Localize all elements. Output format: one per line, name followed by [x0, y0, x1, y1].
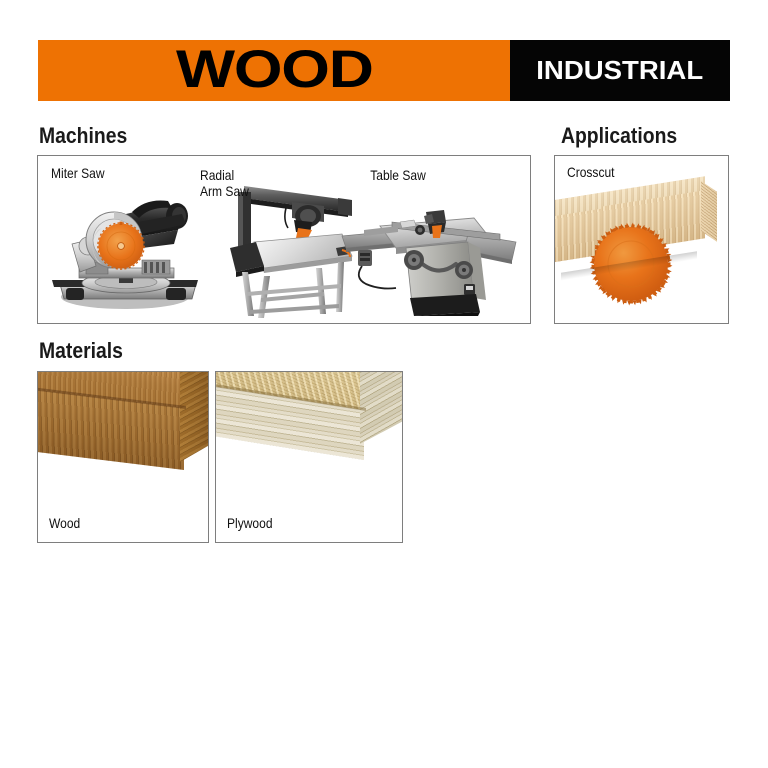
material-label-plywood: Plywood [227, 516, 273, 532]
table-saw-icon [340, 186, 520, 316]
plywood-side-plies [360, 371, 402, 444]
panel-applications: Crosscut [554, 155, 729, 324]
section-heading-materials: Materials [39, 340, 123, 362]
page-title: WOOD [176, 43, 373, 99]
board-front-left-overlap [555, 208, 595, 262]
application-label-crosscut: Crosscut [567, 165, 615, 181]
machine-label-table-saw: Table Saw [346, 168, 449, 184]
header-orange-block: WOOD [38, 40, 510, 101]
header-black-block: INDUSTRIAL [510, 40, 730, 101]
crosscut-icon [555, 194, 729, 314]
plywood-sheet-icon [215, 371, 403, 480]
panel-machines: Miter Saw [37, 155, 531, 324]
status-badge: INDUSTRIAL [537, 57, 704, 85]
miter-saw-icon [46, 184, 206, 314]
material-label-wood: Wood [49, 516, 80, 532]
section-heading-applications: Applications [561, 125, 677, 147]
solid-wood-block-icon [37, 371, 209, 478]
panel-plywood: Plywood [215, 371, 403, 543]
panel-wood: Wood [37, 371, 209, 543]
section-heading-machines: Machines [39, 125, 127, 147]
product-spec-sheet: WOOD INDUSTRIAL Machines Applications Ma… [0, 0, 768, 768]
machine-label-radial-arm-saw: Radial Arm Saw [200, 168, 249, 199]
wood-side-face [180, 371, 209, 462]
header-banner: WOOD INDUSTRIAL [38, 40, 730, 101]
machine-label-miter-saw: Miter Saw [51, 166, 105, 182]
